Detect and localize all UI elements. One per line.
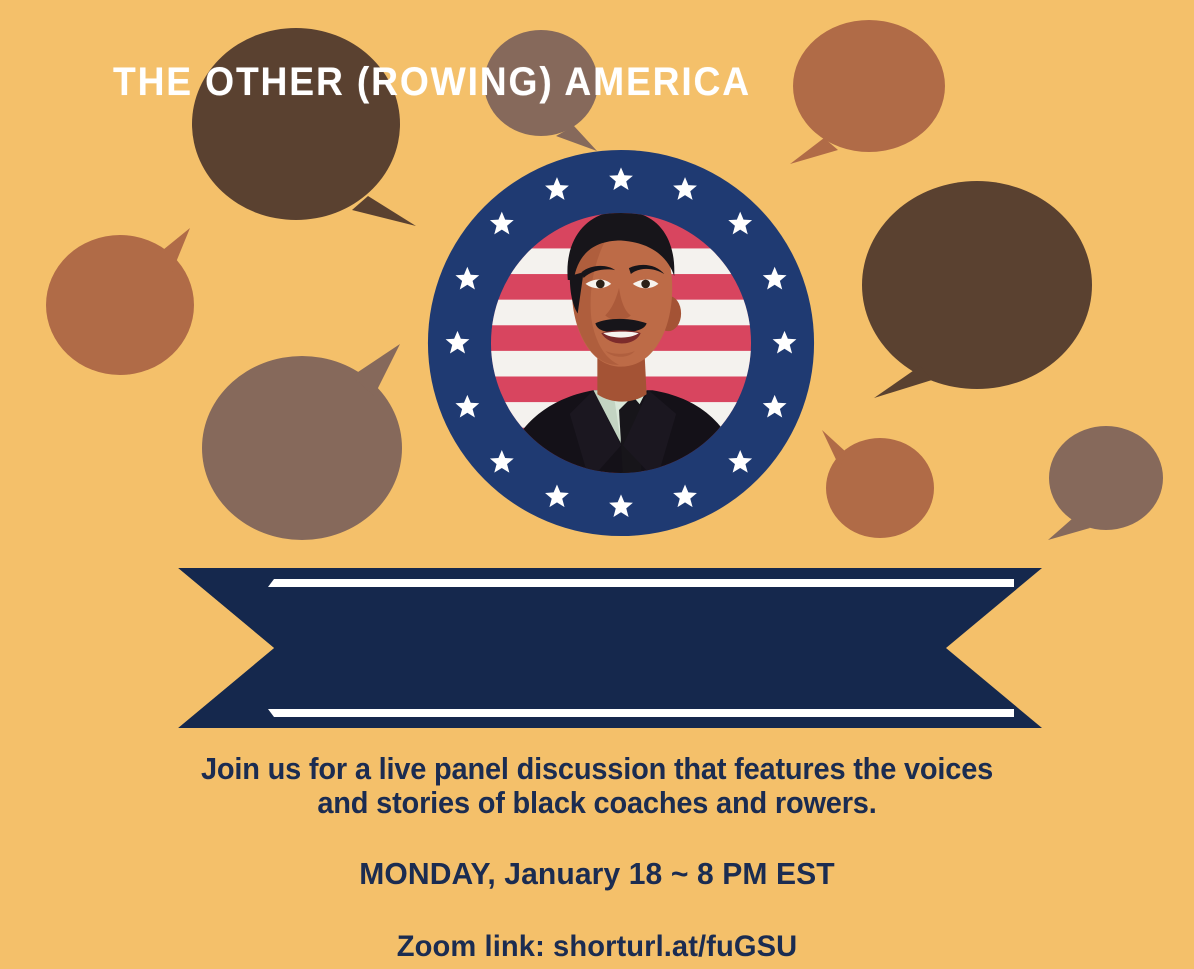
banner-title-text: THE OTHER (ROWING) AMERICA xyxy=(30,0,834,164)
banner-ribbon xyxy=(178,568,1042,728)
description-line-2: and stories of black coaches and rowers. xyxy=(317,786,876,820)
description-line-1: Join us for a live panel discussion that… xyxy=(201,752,993,786)
event-datetime: MONDAY, January 18 ~ 8 PM EST xyxy=(18,856,1176,892)
zoom-link-text[interactable]: Zoom link: shorturl.at/fuGSU xyxy=(18,930,1176,964)
title-banner xyxy=(178,566,1042,730)
banner-stripe-top xyxy=(268,579,1014,587)
speech-bubble-dark-right xyxy=(862,181,1092,398)
flyer-canvas: THE OTHER (ROWING) AMERICA Join us for a… xyxy=(0,0,1194,969)
speech-bubble-taupe-bottom xyxy=(1048,426,1163,540)
flyer-copy: Join us for a live panel discussion that… xyxy=(0,752,1194,964)
speech-bubble-taupe-lower-left xyxy=(202,344,402,540)
banner-stripe-bottom xyxy=(268,709,1014,717)
speech-bubble-sienna-left xyxy=(46,228,194,375)
speech-bubble-sienna-bottom xyxy=(822,430,934,538)
mlk-portrait-medallion xyxy=(424,146,818,540)
description-text: Join us for a live panel discussion that… xyxy=(30,752,1164,820)
